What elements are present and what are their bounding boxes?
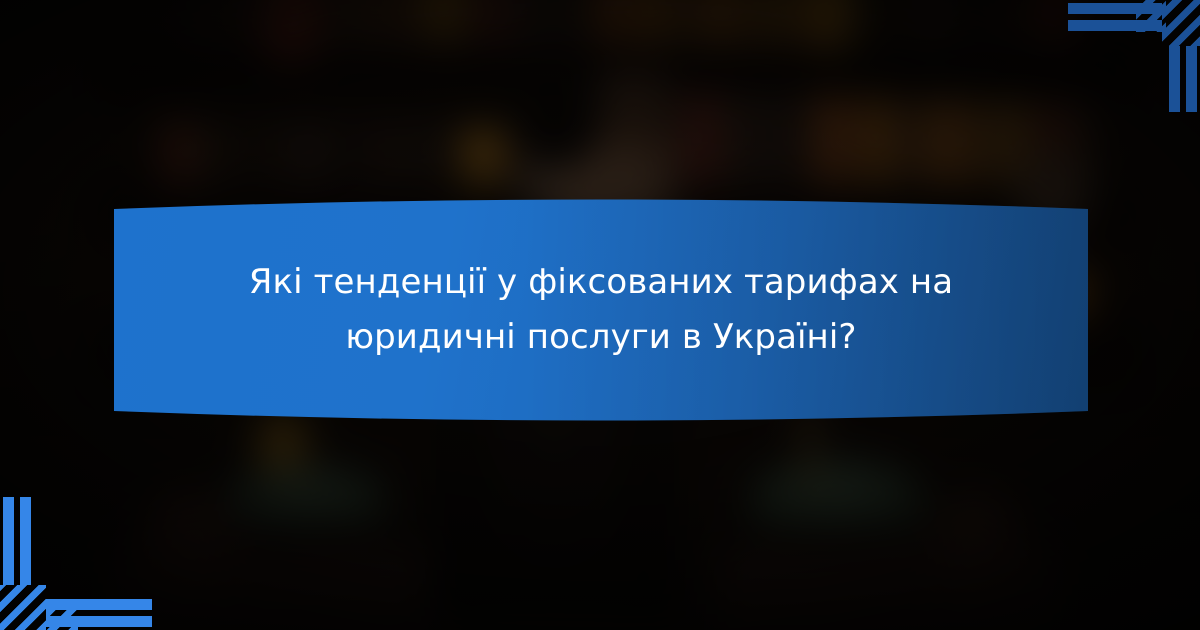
corner-accent-top-right — [1040, 0, 1200, 112]
corner-hatch-extension-bl — [46, 599, 78, 630]
corner-hatch-block-bl — [0, 585, 46, 630]
corner-hatch-extension — [1136, 0, 1166, 32]
corner-bar-vertical-3 — [3, 497, 14, 585]
corner-accent-bottom-left — [0, 475, 160, 630]
share-card: Які тенденції у фіксованих тарифах на юр… — [0, 0, 1200, 630]
page-title: Які тенденції у фіксованих тарифах на юр… — [102, 213, 1100, 407]
corner-bar-vertical-2 — [1186, 46, 1197, 112]
corner-bar-vertical-1 — [1169, 46, 1180, 112]
corner-bar-vertical-4 — [20, 497, 31, 585]
corner-hatch-block — [1162, 0, 1200, 46]
headline-banner: Які тенденції у фіксованих тарифах на юр… — [102, 190, 1100, 430]
